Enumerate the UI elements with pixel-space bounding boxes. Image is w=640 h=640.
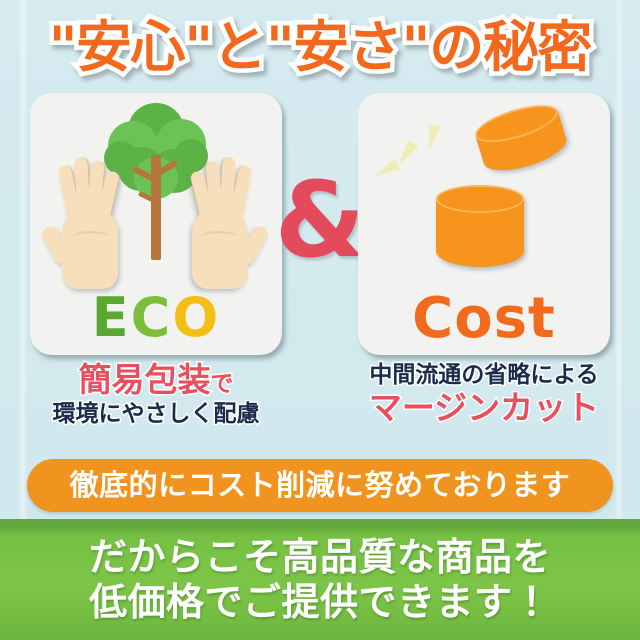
eco-letter-e: E (92, 286, 131, 349)
promo-banner: "安心"と"安さ"の秘密 (0, 0, 640, 640)
eco-wordmark: ECO (30, 291, 282, 345)
footer-line-1: だからこそ高品質な商品を (89, 535, 551, 580)
banner-title-text: "安心"と"安さ"の秘密 (49, 20, 592, 75)
cost-reduction-pill-text: 徹底的にコスト削減に努めております (70, 471, 571, 500)
spark-icon (423, 124, 440, 152)
cost-wordmark: Cost (358, 291, 610, 347)
cost-caption: 中間流通の省略による マージンカット (344, 362, 624, 427)
hand-left-icon (46, 155, 132, 290)
cost-caption-primary: マージンカット (344, 390, 624, 427)
footer-banner: だからこそ高品質な商品を 低価格でご提供できます！ (0, 519, 640, 640)
ampersand-connector: & (272, 168, 368, 272)
eco-caption-primary: 簡易包装で (16, 362, 296, 399)
cost-card: Cost (358, 93, 610, 355)
eco-card: ECO (30, 93, 282, 355)
eco-caption-primary-suffix: で (211, 371, 234, 397)
coin-lid-icon (471, 98, 570, 179)
banner-title: "安心"と"安さ"の秘密 (0, 6, 640, 88)
eco-letter-o: O (172, 286, 220, 349)
hand-right-icon (178, 155, 264, 290)
eco-letter-c: C (131, 286, 173, 349)
spark-icon (394, 140, 419, 168)
eco-caption: 簡易包装で 環境にやさしく配慮 (16, 362, 296, 427)
footer-line-2: 低価格でご提供できます！ (89, 580, 551, 625)
cost-reduction-pill: 徹底的にコスト削減に努めております (27, 459, 613, 512)
eco-caption-primary-text: 簡易包装 (79, 360, 211, 399)
cost-caption-secondary: 中間流通の省略による (344, 362, 624, 388)
coin-stack-icon (436, 185, 524, 267)
eco-caption-secondary: 環境にやさしく配慮 (16, 401, 296, 427)
